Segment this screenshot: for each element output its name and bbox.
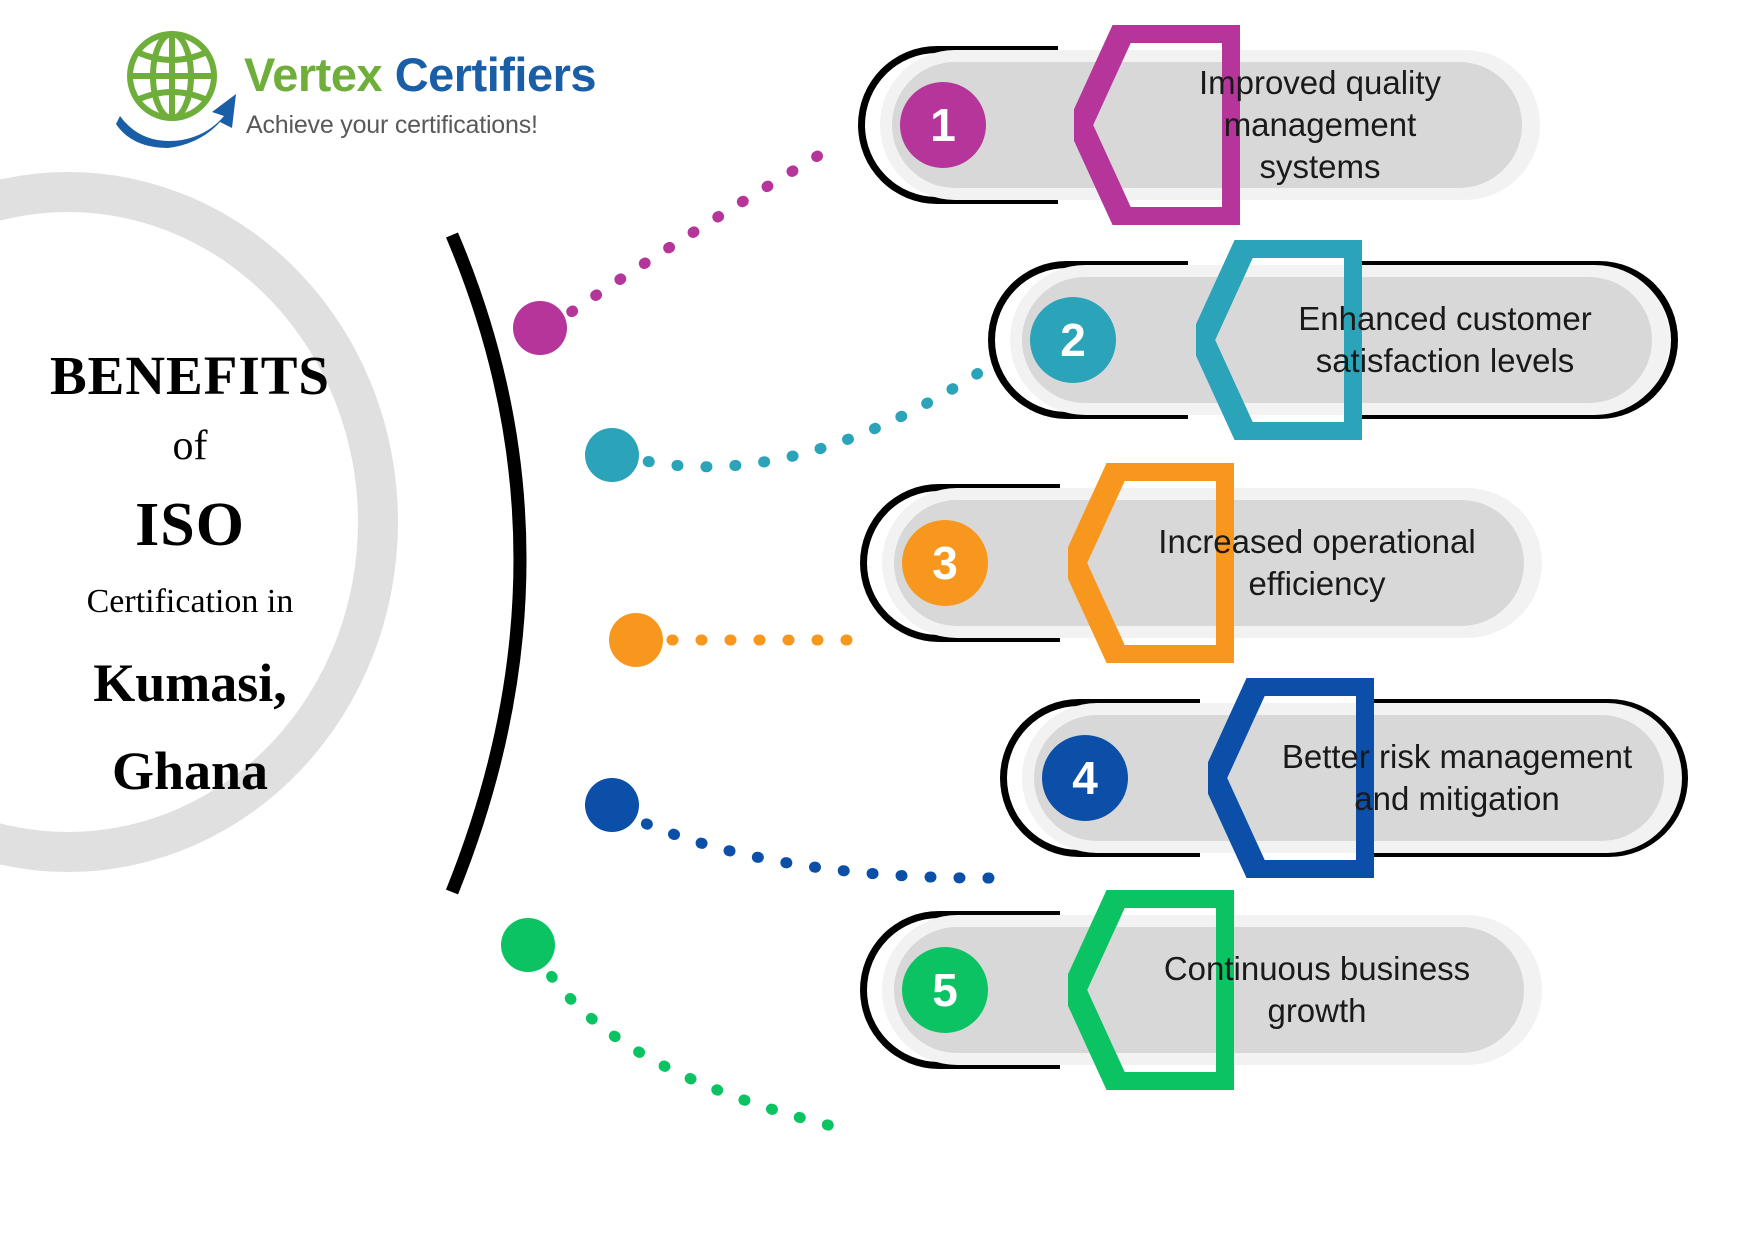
benefit-row-5[interactable]: 5 Continuous business growth (0, 890, 1748, 1090)
benefit-row-2[interactable]: 2 Enhanced customer satisfaction levels (0, 240, 1748, 440)
benefit-text-3: Increased operational efficiency (1092, 521, 1542, 605)
benefit-number-1: 1 (900, 82, 986, 168)
benefit-row-1[interactable]: 1 Improved quality management systems (0, 25, 1748, 225)
benefit-row-3[interactable]: 3 Increased operational efficiency (0, 463, 1748, 663)
benefit-number-2: 2 (1030, 297, 1116, 383)
benefit-number-4: 4 (1042, 735, 1128, 821)
benefit-text-2: Enhanced customer satisfaction levels (1220, 298, 1670, 382)
benefit-number-3: 3 (902, 520, 988, 606)
benefit-text-1: Improved quality management systems (1100, 62, 1540, 188)
benefit-text-5: Continuous business growth (1092, 948, 1542, 1032)
benefit-row-4[interactable]: 4 Better risk management and mitigation (0, 678, 1748, 878)
benefit-text-4: Better risk management and mitigation (1222, 736, 1692, 820)
infographic-canvas: Vertex Certifiers Achieve your certifica… (0, 0, 1748, 1240)
benefit-number-5: 5 (902, 947, 988, 1033)
